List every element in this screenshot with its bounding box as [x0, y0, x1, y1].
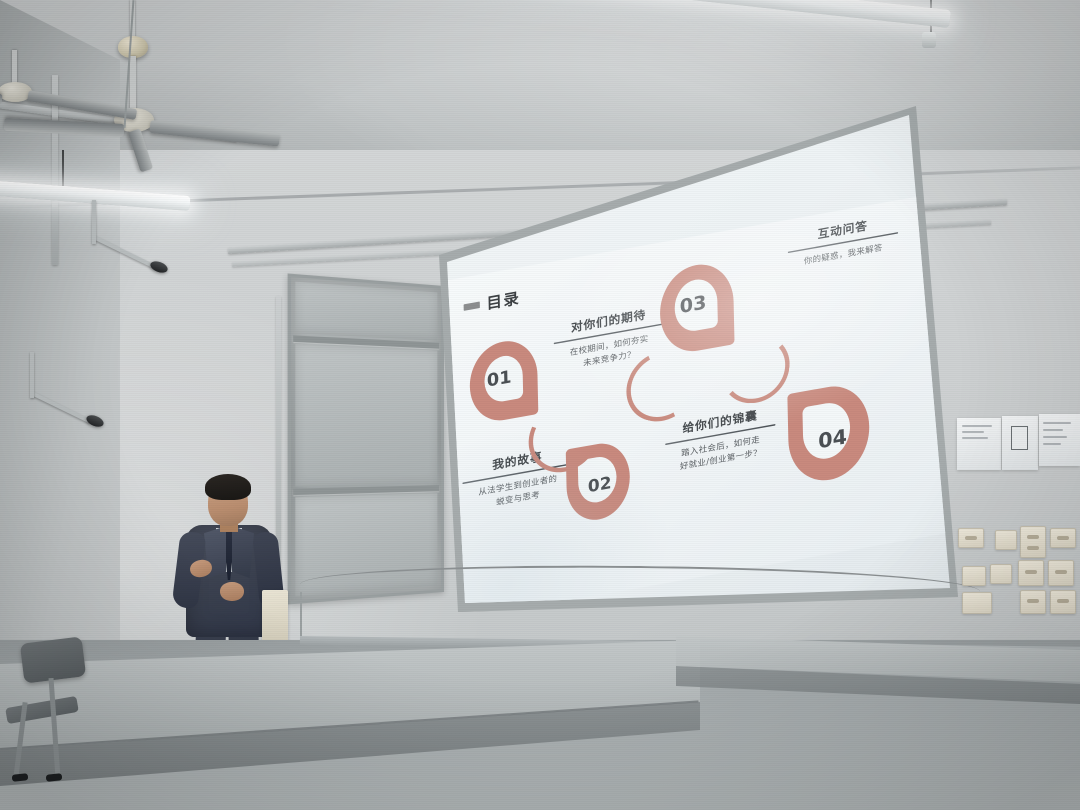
fan-blade-1: [27, 90, 137, 120]
wall-socket-2[interactable]: [995, 530, 1017, 550]
classroom-presentation-scene: 目录 01 我的故事 从法学生到创业者的 蜕变与思考: [0, 0, 1080, 810]
fan-rod: [12, 50, 17, 86]
chair-seat: [5, 696, 79, 724]
presenter-hair: [205, 474, 251, 500]
window-pane-middle: [295, 344, 437, 486]
notice-line: [1043, 436, 1067, 438]
chair-leg-back: [49, 678, 61, 778]
slide-title: 目录: [486, 286, 520, 314]
fan-blade-1: [149, 120, 280, 147]
notice-sheet-right: [1039, 414, 1080, 466]
chair-backrest: [20, 636, 86, 683]
classroom-chair[interactable]: [8, 640, 98, 790]
agenda-number-03: 03: [652, 251, 735, 358]
notice-line: [962, 437, 988, 439]
ceiling-fan-left: [0, 50, 140, 200]
agenda-node-03: 03: [659, 259, 734, 358]
wall-socket-5[interactable]: [962, 566, 986, 586]
notice-line: [1043, 429, 1063, 431]
tube-light-cap-right: [922, 32, 936, 48]
wall-socket-3[interactable]: [1020, 526, 1046, 558]
agenda-node-01: 01: [469, 336, 538, 426]
mic-boom-upper-stem: [92, 200, 96, 244]
wall-socket-7[interactable]: [1018, 560, 1044, 586]
chair-foot-front: [12, 773, 29, 782]
agenda-number-01: 01: [460, 330, 538, 428]
agenda-number-04: 04: [795, 391, 870, 485]
wall-socket-11[interactable]: [962, 592, 992, 614]
presenter-hand-right: [220, 582, 244, 601]
notice-line: [962, 431, 984, 433]
wall-socket-1[interactable]: [958, 528, 984, 548]
chair-foot-back: [46, 773, 63, 782]
window-pane-top: [295, 282, 437, 341]
wall-socket-8[interactable]: [1048, 560, 1074, 586]
classroom-window: [288, 273, 444, 604]
mic-boom-lower-stem: [30, 352, 34, 398]
agenda-caption-04: 互动问答 你的疑惑，我来解答: [776, 208, 909, 273]
slide-header: 目录: [463, 286, 520, 318]
wall-socket-9[interactable]: [1020, 590, 1046, 614]
notice-line: [962, 425, 992, 427]
square-bullet-icon: [464, 301, 480, 310]
notice-line: [1043, 422, 1071, 424]
wall-socket-10[interactable]: [1050, 590, 1076, 614]
notice-photo-box: [1011, 426, 1028, 450]
wall-socket-4[interactable]: [1050, 528, 1076, 548]
notice-sheet-center: [1002, 416, 1038, 470]
projection-screen: 目录 01 我的故事 从法学生到创业者的 蜕变与思考: [434, 106, 958, 612]
wall-socket-6[interactable]: [990, 564, 1012, 584]
notice-sheet-left: [957, 418, 1001, 470]
notice-line: [1043, 443, 1061, 445]
agenda-node-04: 04: [787, 380, 870, 487]
